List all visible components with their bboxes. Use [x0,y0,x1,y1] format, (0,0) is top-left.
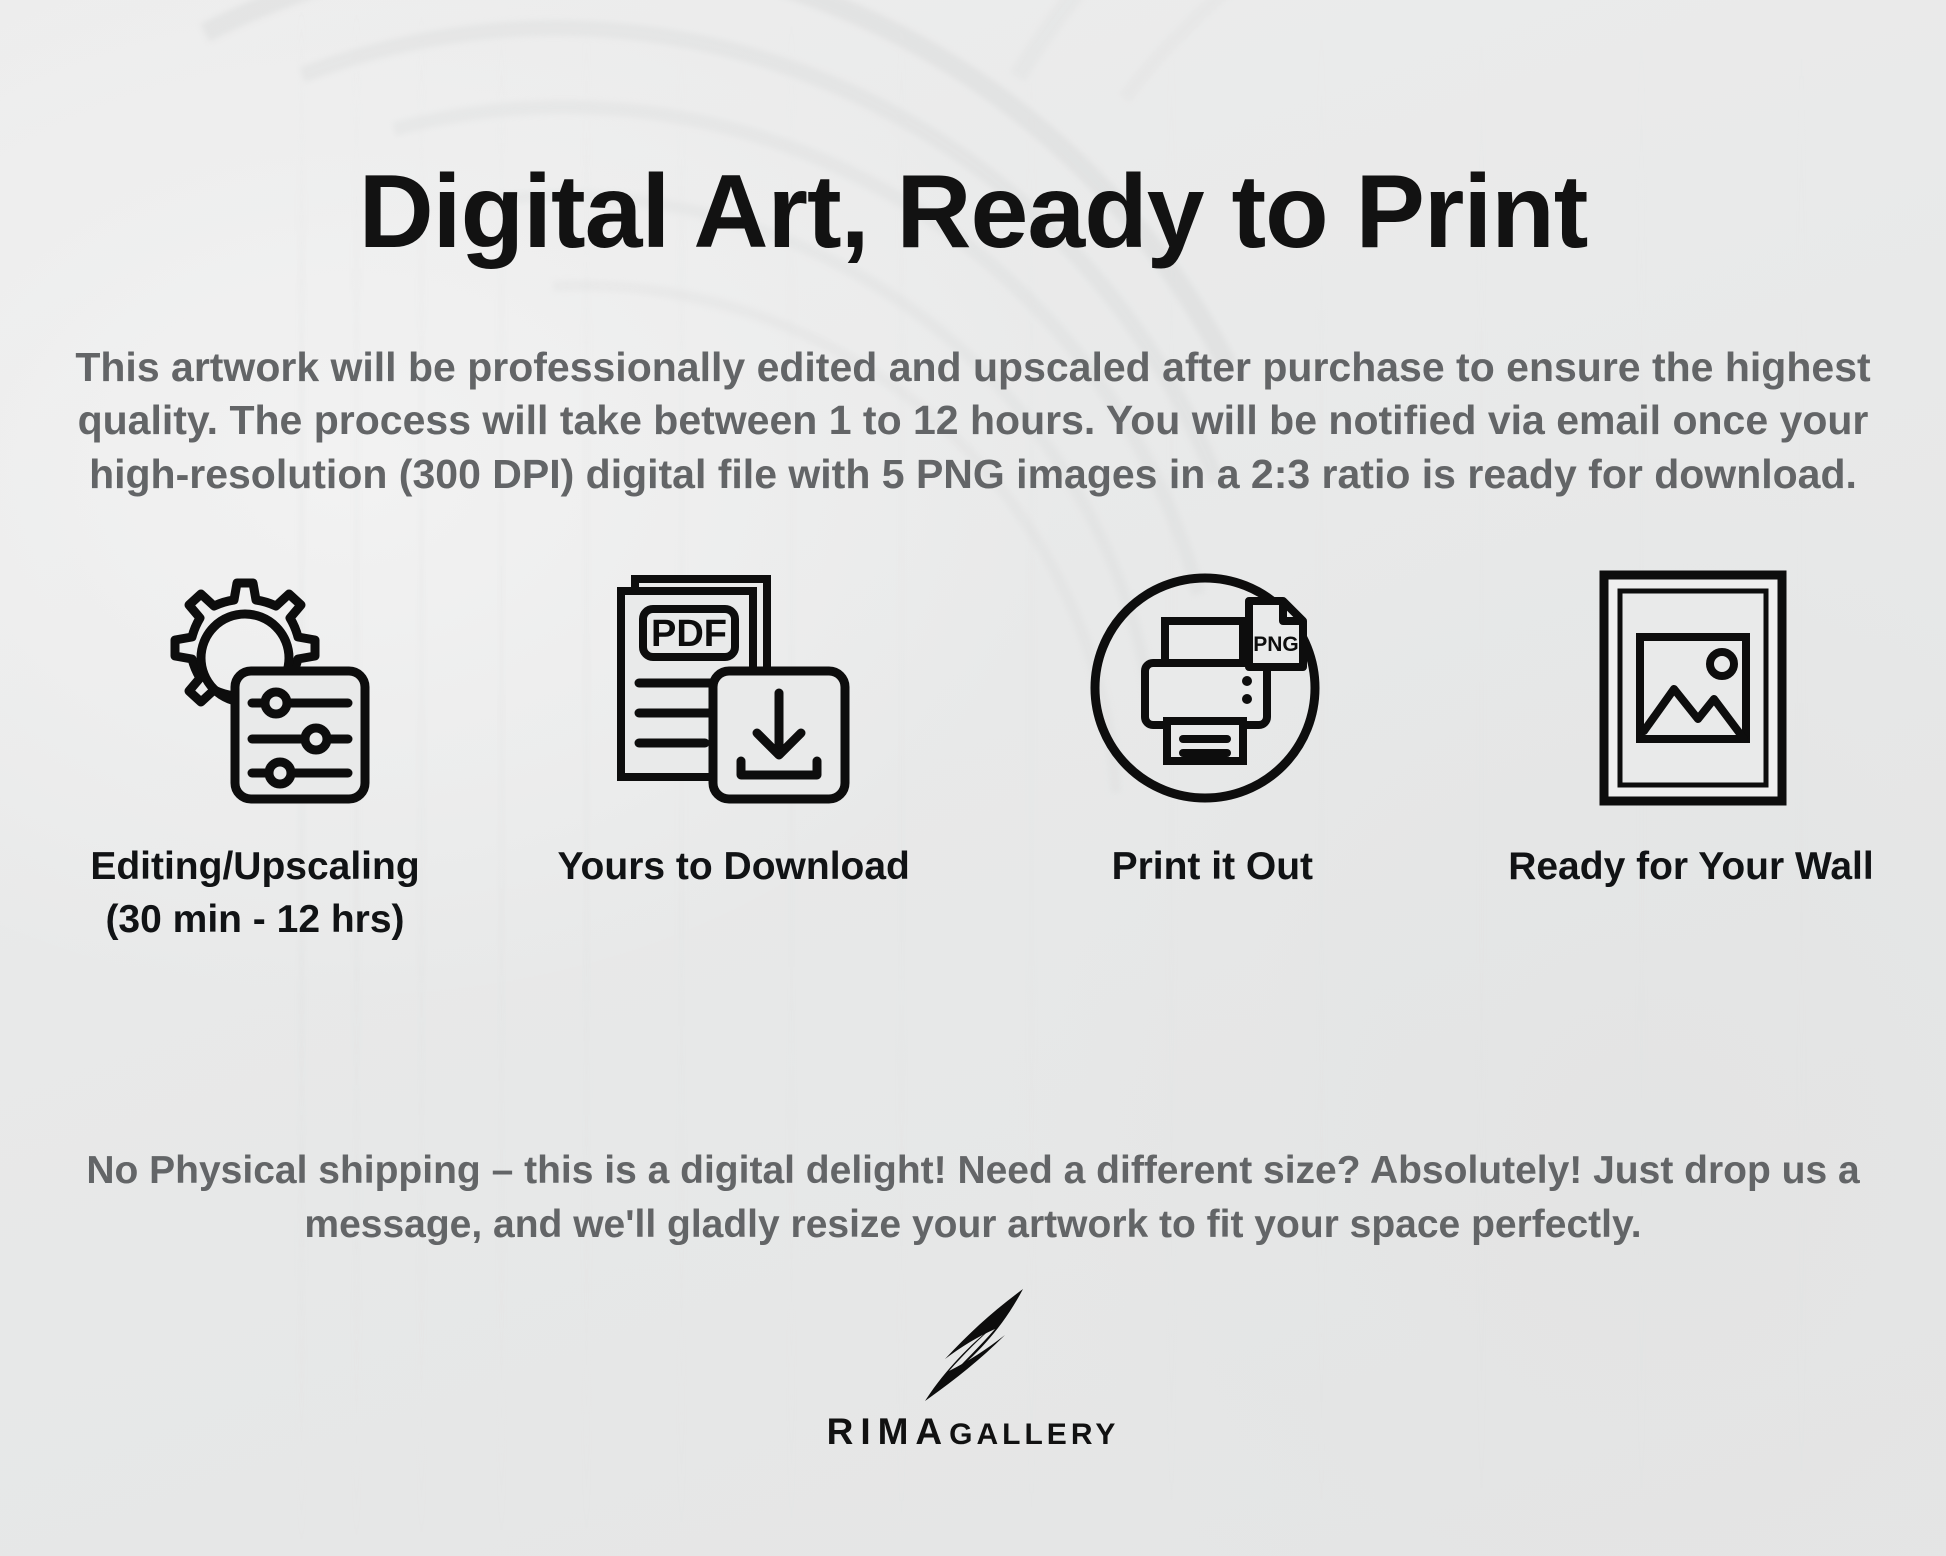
step-label-line1: Print it Out [1112,841,1313,894]
png-label: PNG [1254,633,1300,656]
process-steps: Editing/Upscaling (30 min - 12 hrs) PDF [0,560,1946,946]
step-label: Editing/Upscaling (30 min - 12 hrs) [90,841,419,946]
step-ready-for-your-wall: Ready for Your Wall [1476,560,1906,946]
poster-content: Digital Art, Ready to Print This artwork… [0,0,1946,1556]
step-label: Yours to Download [557,841,909,894]
step-label-line1: Yours to Download [557,841,909,894]
step-yours-to-download: PDF Yours to Download [519,560,949,946]
brand-logo: RIMA GALLERY [0,1285,1946,1453]
step-editing-upscaling: Editing/Upscaling (30 min - 12 hrs) [40,560,470,946]
brand-wordmark: RIMA GALLERY [827,1411,1120,1453]
step-label-line1: Editing/Upscaling [90,841,419,894]
pdf-download-icon: PDF [609,560,859,815]
footnote-text: No Physical shipping – this is a digital… [60,1144,1886,1252]
intro-paragraph: This artwork will be professionally edit… [50,341,1896,501]
printer-png-icon: PNG [1087,560,1337,815]
framed-picture-icon [1566,560,1816,815]
step-label-line1: Ready for Your Wall [1508,841,1874,894]
step-label: Print it Out [1112,841,1313,894]
step-label: Ready for Your Wall [1508,841,1874,894]
step-label-line2: (30 min - 12 hrs) [90,894,419,947]
brand-name-secondary: GALLERY [949,1418,1119,1452]
page-title: Digital Art, Ready to Print [0,158,1946,267]
brand-name-primary: RIMA [827,1411,950,1453]
step-print-it-out: PNG Print it Out [997,560,1427,946]
gear-sliders-icon [130,560,380,815]
pdf-label: PDF [651,613,727,655]
rima-swoosh-icon [873,1285,1073,1405]
